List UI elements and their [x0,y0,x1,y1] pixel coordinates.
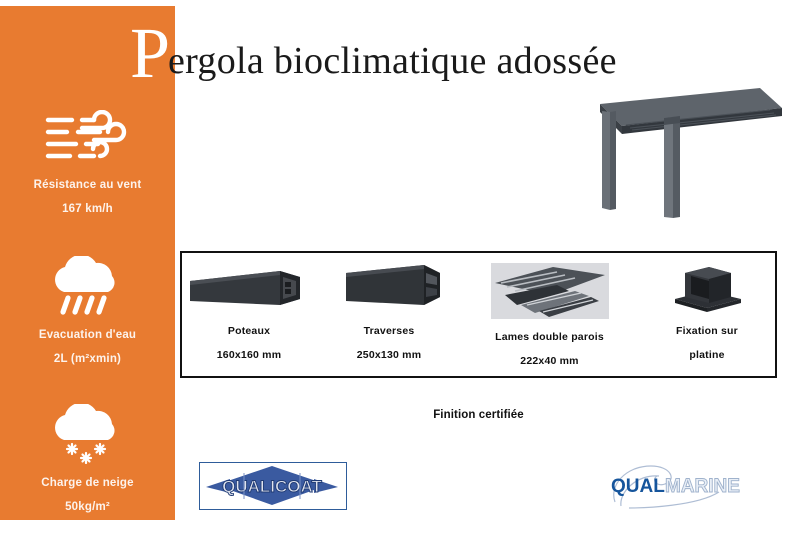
spec-label: Résistance au vent [0,179,175,191]
page-title: ergola bioclimatique adossée [168,42,617,80]
rain-cloud-icon-svg [42,256,134,316]
spec-value: 2L (m²xmin) [0,353,175,365]
rain-cloud-icon [0,254,175,316]
beam-profile-image-svg [328,261,450,317]
product-item-poteaux: Poteaux 160x160 mm [184,258,314,361]
spec-value: 50kg/m² [0,501,175,513]
product-dimension: 222x40 mm [462,355,637,367]
wind-icon [0,104,175,166]
product-name: Lames double parois [462,331,637,343]
spec-label: Charge de neige [0,477,175,489]
post-profile-image [184,258,314,320]
qualicoat-logo-svg: QUALICOAT [200,463,345,508]
qualimarine-logo-text-secondary: MARINE [665,476,740,497]
base-plate-fixing-image-svg [657,261,757,317]
double-wall-blades-image [462,258,637,326]
post-profile-image-svg [188,261,310,317]
base-plate-fixing-image [642,258,772,320]
product-name: Fixation sur [642,325,772,337]
spec-label: Evacuation d'eau [0,329,175,341]
qualicoat-logo-text: QUALICOAT [222,477,322,496]
product-item-lames: Lames double parois 222x40 mm [462,258,637,367]
snow-cloud-icon [0,402,175,464]
product-item-fixation: Fixation sur platine [642,258,772,361]
product-name: Traverses [324,325,454,337]
product-item-traverses: Traverses 250x130 mm [324,258,454,361]
snow-cloud-icon-svg [42,404,134,464]
wind-icon-svg [42,110,134,166]
product-name: Poteaux [184,325,314,337]
qualimarine-logo-text-primary: QUALI [611,476,670,497]
double-wall-blades-image-svg [491,261,609,323]
product-dimension: platine [642,349,772,361]
qualimarine-logo-svg: QUALI MARINE [585,458,745,510]
page-title-initial: P [130,17,170,89]
spec-wind-resistance: Résistance au vent 167 km/h [0,104,175,215]
components-box: Poteaux 160x160 mm Traverses 250x130 mm [180,251,777,378]
beam-profile-image [324,258,454,320]
qualimarine-logo: QUALI MARINE [585,458,745,510]
product-dimension: 250x130 mm [324,349,454,361]
pergola-illustration [560,78,790,228]
qualicoat-logo: QUALICOAT [199,462,347,510]
product-dimension: 160x160 mm [184,349,314,361]
certification-heading: Finition certifiée [180,409,777,421]
spec-snow-load: Charge de neige 50kg/m² [0,402,175,513]
spec-value: 167 km/h [0,203,175,215]
spec-water-evacuation: Evacuation d'eau 2L (m²xmin) [0,254,175,365]
product-sheet-page: Résistance au vent 167 km/h Evacuation d… [0,0,800,534]
pergola-illustration-svg [560,78,790,228]
